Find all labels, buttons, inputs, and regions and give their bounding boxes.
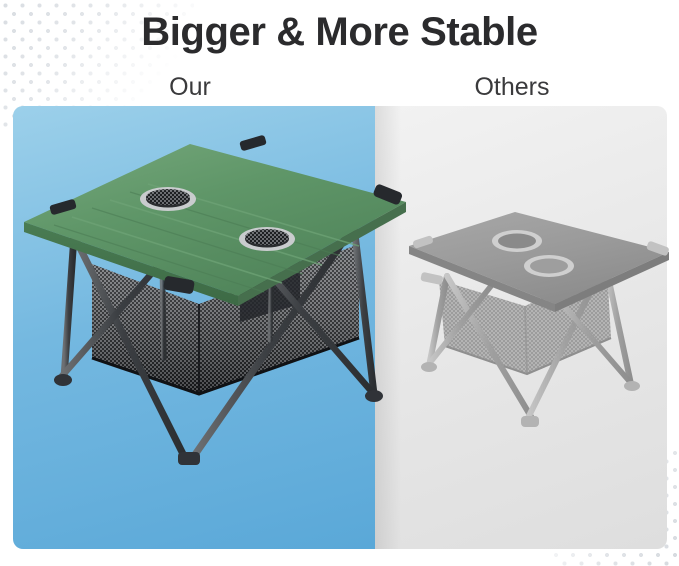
comparison-panels: 29.2"W x 21.7"D x 19.7"H Stable Structur… xyxy=(13,106,667,549)
cup-holder-icon xyxy=(239,227,295,251)
column-label-our: Our xyxy=(90,72,290,102)
cup-holder-icon xyxy=(524,255,574,277)
gray-folding-camp-table-image xyxy=(385,198,679,458)
page-title: Bigger & More Stable xyxy=(0,7,679,57)
cup-holder-icon xyxy=(492,230,542,252)
green-folding-camp-table-image xyxy=(14,126,414,486)
cup-holder-icon xyxy=(140,187,196,211)
comparison-infographic: Bigger & More Stable Our Others xyxy=(0,0,679,566)
column-label-others: Others xyxy=(412,72,612,102)
